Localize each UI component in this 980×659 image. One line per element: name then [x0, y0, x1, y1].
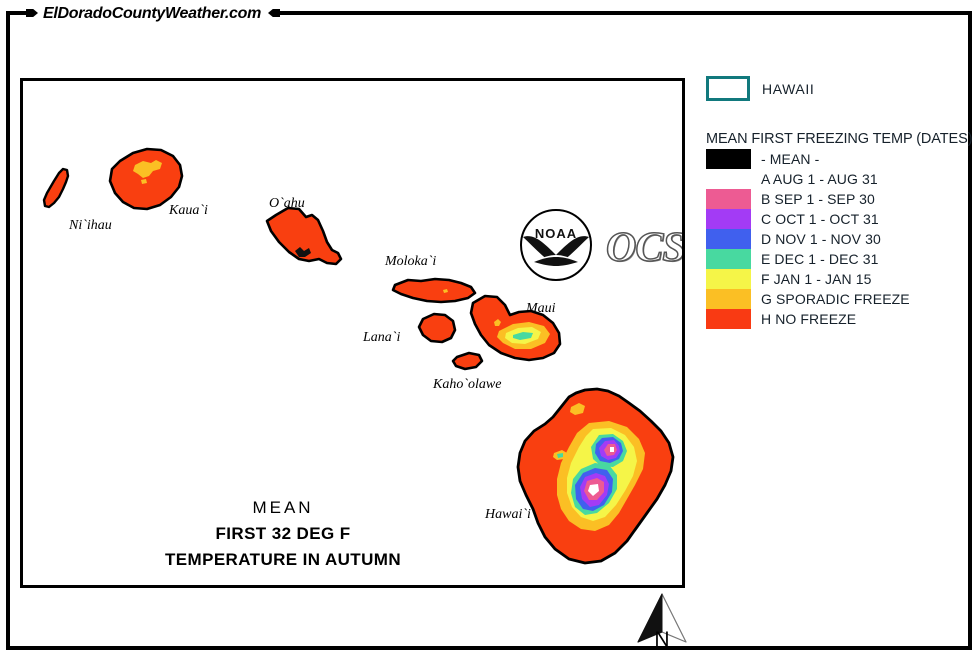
legend-swatch: [706, 149, 751, 169]
island-oahu: [267, 208, 341, 264]
legend-entry-label: B SEP 1 - SEP 30: [761, 191, 875, 207]
map-caption-line2: FIRST 32 DEG F: [133, 525, 433, 542]
legend-hawaii-swatch: [706, 76, 750, 101]
map-caption-line3: TEMPERATURE IN AUTUMN: [133, 551, 433, 568]
legend-swatch: [706, 309, 751, 329]
legend-swatch: [706, 169, 751, 189]
legend-swatch: [706, 269, 751, 289]
island-label-hawaii: Hawai`i: [485, 507, 531, 523]
ocs-logo-text: OCS: [606, 224, 685, 272]
island-kauai: [110, 149, 182, 209]
map-panel[interactable]: Ni`ihau Kaua`i O`ahu Moloka`i Lana`i Mau…: [20, 78, 685, 588]
legend-swatch: [706, 209, 751, 229]
legend-swatch: [706, 229, 751, 249]
legend-entry-label: C OCT 1 - OCT 31: [761, 211, 879, 227]
legend-swatch: [706, 189, 751, 209]
legend-entry-label: E DEC 1 - DEC 31: [761, 251, 879, 267]
legend-entry-label: H NO FREEZE: [761, 311, 856, 327]
island-lanai: [419, 314, 455, 342]
island-hawaii-big: [518, 389, 673, 563]
legend-row: D NOV 1 - NOV 30: [706, 229, 972, 249]
legend-swatch: [706, 289, 751, 309]
island-label-niihau: Ni`ihau: [69, 218, 112, 234]
legend-row: - MEAN -: [706, 149, 972, 169]
noaa-logo-icon: NOAA: [518, 207, 594, 283]
legend-row: H NO FREEZE: [706, 309, 972, 329]
legend-entry-label: A AUG 1 - AUG 31: [761, 171, 878, 187]
island-molokai: [393, 279, 475, 302]
legend-entry-label: G SPORADIC FREEZE: [761, 291, 910, 307]
legend-title: MEAN FIRST FREEZING TEMP (DATES): [706, 131, 972, 147]
legend-panel: HAWAII MEAN FIRST FREEZING TEMP (DATES) …: [706, 76, 972, 329]
map-caption-line1: MEAN: [133, 499, 433, 516]
island-niihau: [44, 169, 68, 207]
island-label-maui: Maui: [526, 301, 556, 317]
legend-row: G SPORADIC FREEZE: [706, 289, 972, 309]
legend-entry-list: - MEAN - A AUG 1 - AUG 31 B SEP 1 - SEP …: [706, 149, 972, 329]
legend-swatch: [706, 249, 751, 269]
legend-row: B SEP 1 - SEP 30: [706, 189, 972, 209]
legend-hawaii-row: HAWAII: [706, 76, 972, 101]
map-caption: MEAN FIRST 32 DEG F TEMPERATURE IN AUTUM…: [133, 499, 433, 568]
island-label-molokai: Moloka`i: [385, 254, 436, 270]
island-label-kauai: Kaua`i: [169, 203, 208, 219]
island-label-kahoolawe: Kaho`olawe: [433, 377, 501, 393]
legend-entry-label: F JAN 1 - JAN 15: [761, 271, 872, 287]
legend-hawaii-label: HAWAII: [762, 81, 814, 97]
legend-row: C OCT 1 - OCT 31: [706, 209, 972, 229]
legend-row: A AUG 1 - AUG 31: [706, 169, 972, 189]
legend-row: F JAN 1 - JAN 15: [706, 269, 972, 289]
island-label-lanai: Lana`i: [363, 330, 400, 346]
island-kahoolawe: [453, 353, 482, 369]
island-label-oahu: O`ahu: [269, 196, 305, 212]
legend-row: E DEC 1 - DEC 31: [706, 249, 972, 269]
noaa-logo-text: NOAA: [535, 226, 577, 241]
legend-entry-label: - MEAN -: [761, 151, 819, 167]
legend-entry-label: D NOV 1 - NOV 30: [761, 231, 881, 247]
north-arrow-label: N: [632, 628, 692, 652]
